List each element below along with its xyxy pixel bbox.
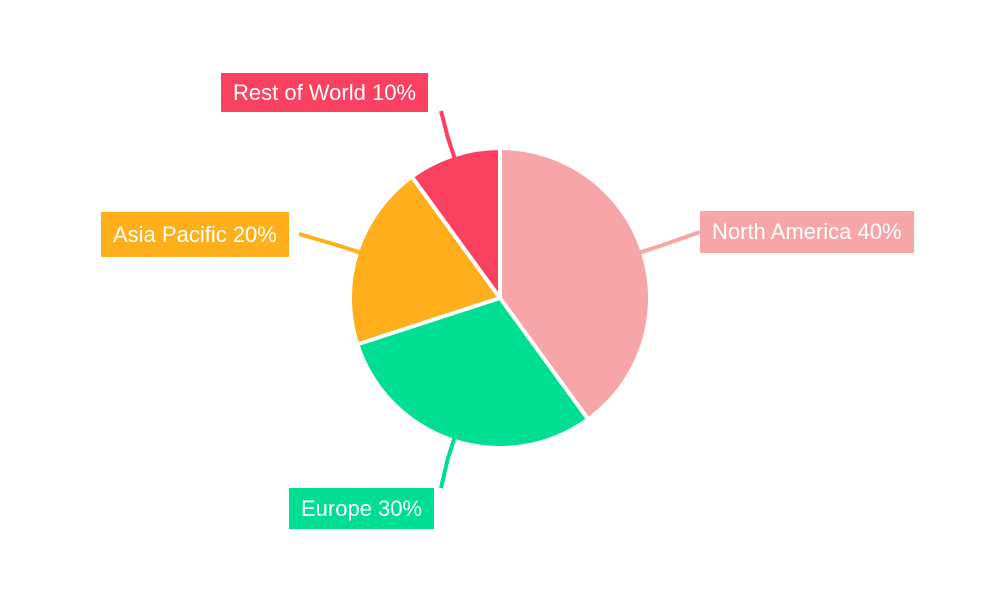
pie-chart-canvas	[0, 0, 1000, 600]
pie-label-north-america-text: North America 40%	[712, 221, 902, 243]
pie-label-rest-of-world-text: Rest of World 10%	[233, 82, 416, 104]
pie-label-north-america[interactable]: North America 40%	[700, 211, 914, 253]
pie-label-asia-pacific-text: Asia Pacific 20%	[113, 224, 277, 246]
leader-line-north-america	[638, 232, 700, 253]
leader-line-rest-of-world	[441, 111, 455, 160]
leader-line-asia-pacific	[299, 234, 362, 253]
pie-label-rest-of-world[interactable]: Rest of World 10%	[221, 73, 428, 112]
pie-label-europe-text: Europe 30%	[301, 498, 422, 520]
pie-chart: North America 40% Europe 30% Asia Pacifi…	[0, 0, 1000, 600]
pie-label-europe[interactable]: Europe 30%	[289, 488, 434, 529]
pie-label-asia-pacific[interactable]: Asia Pacific 20%	[101, 212, 289, 257]
leader-line-europe	[441, 436, 455, 488]
